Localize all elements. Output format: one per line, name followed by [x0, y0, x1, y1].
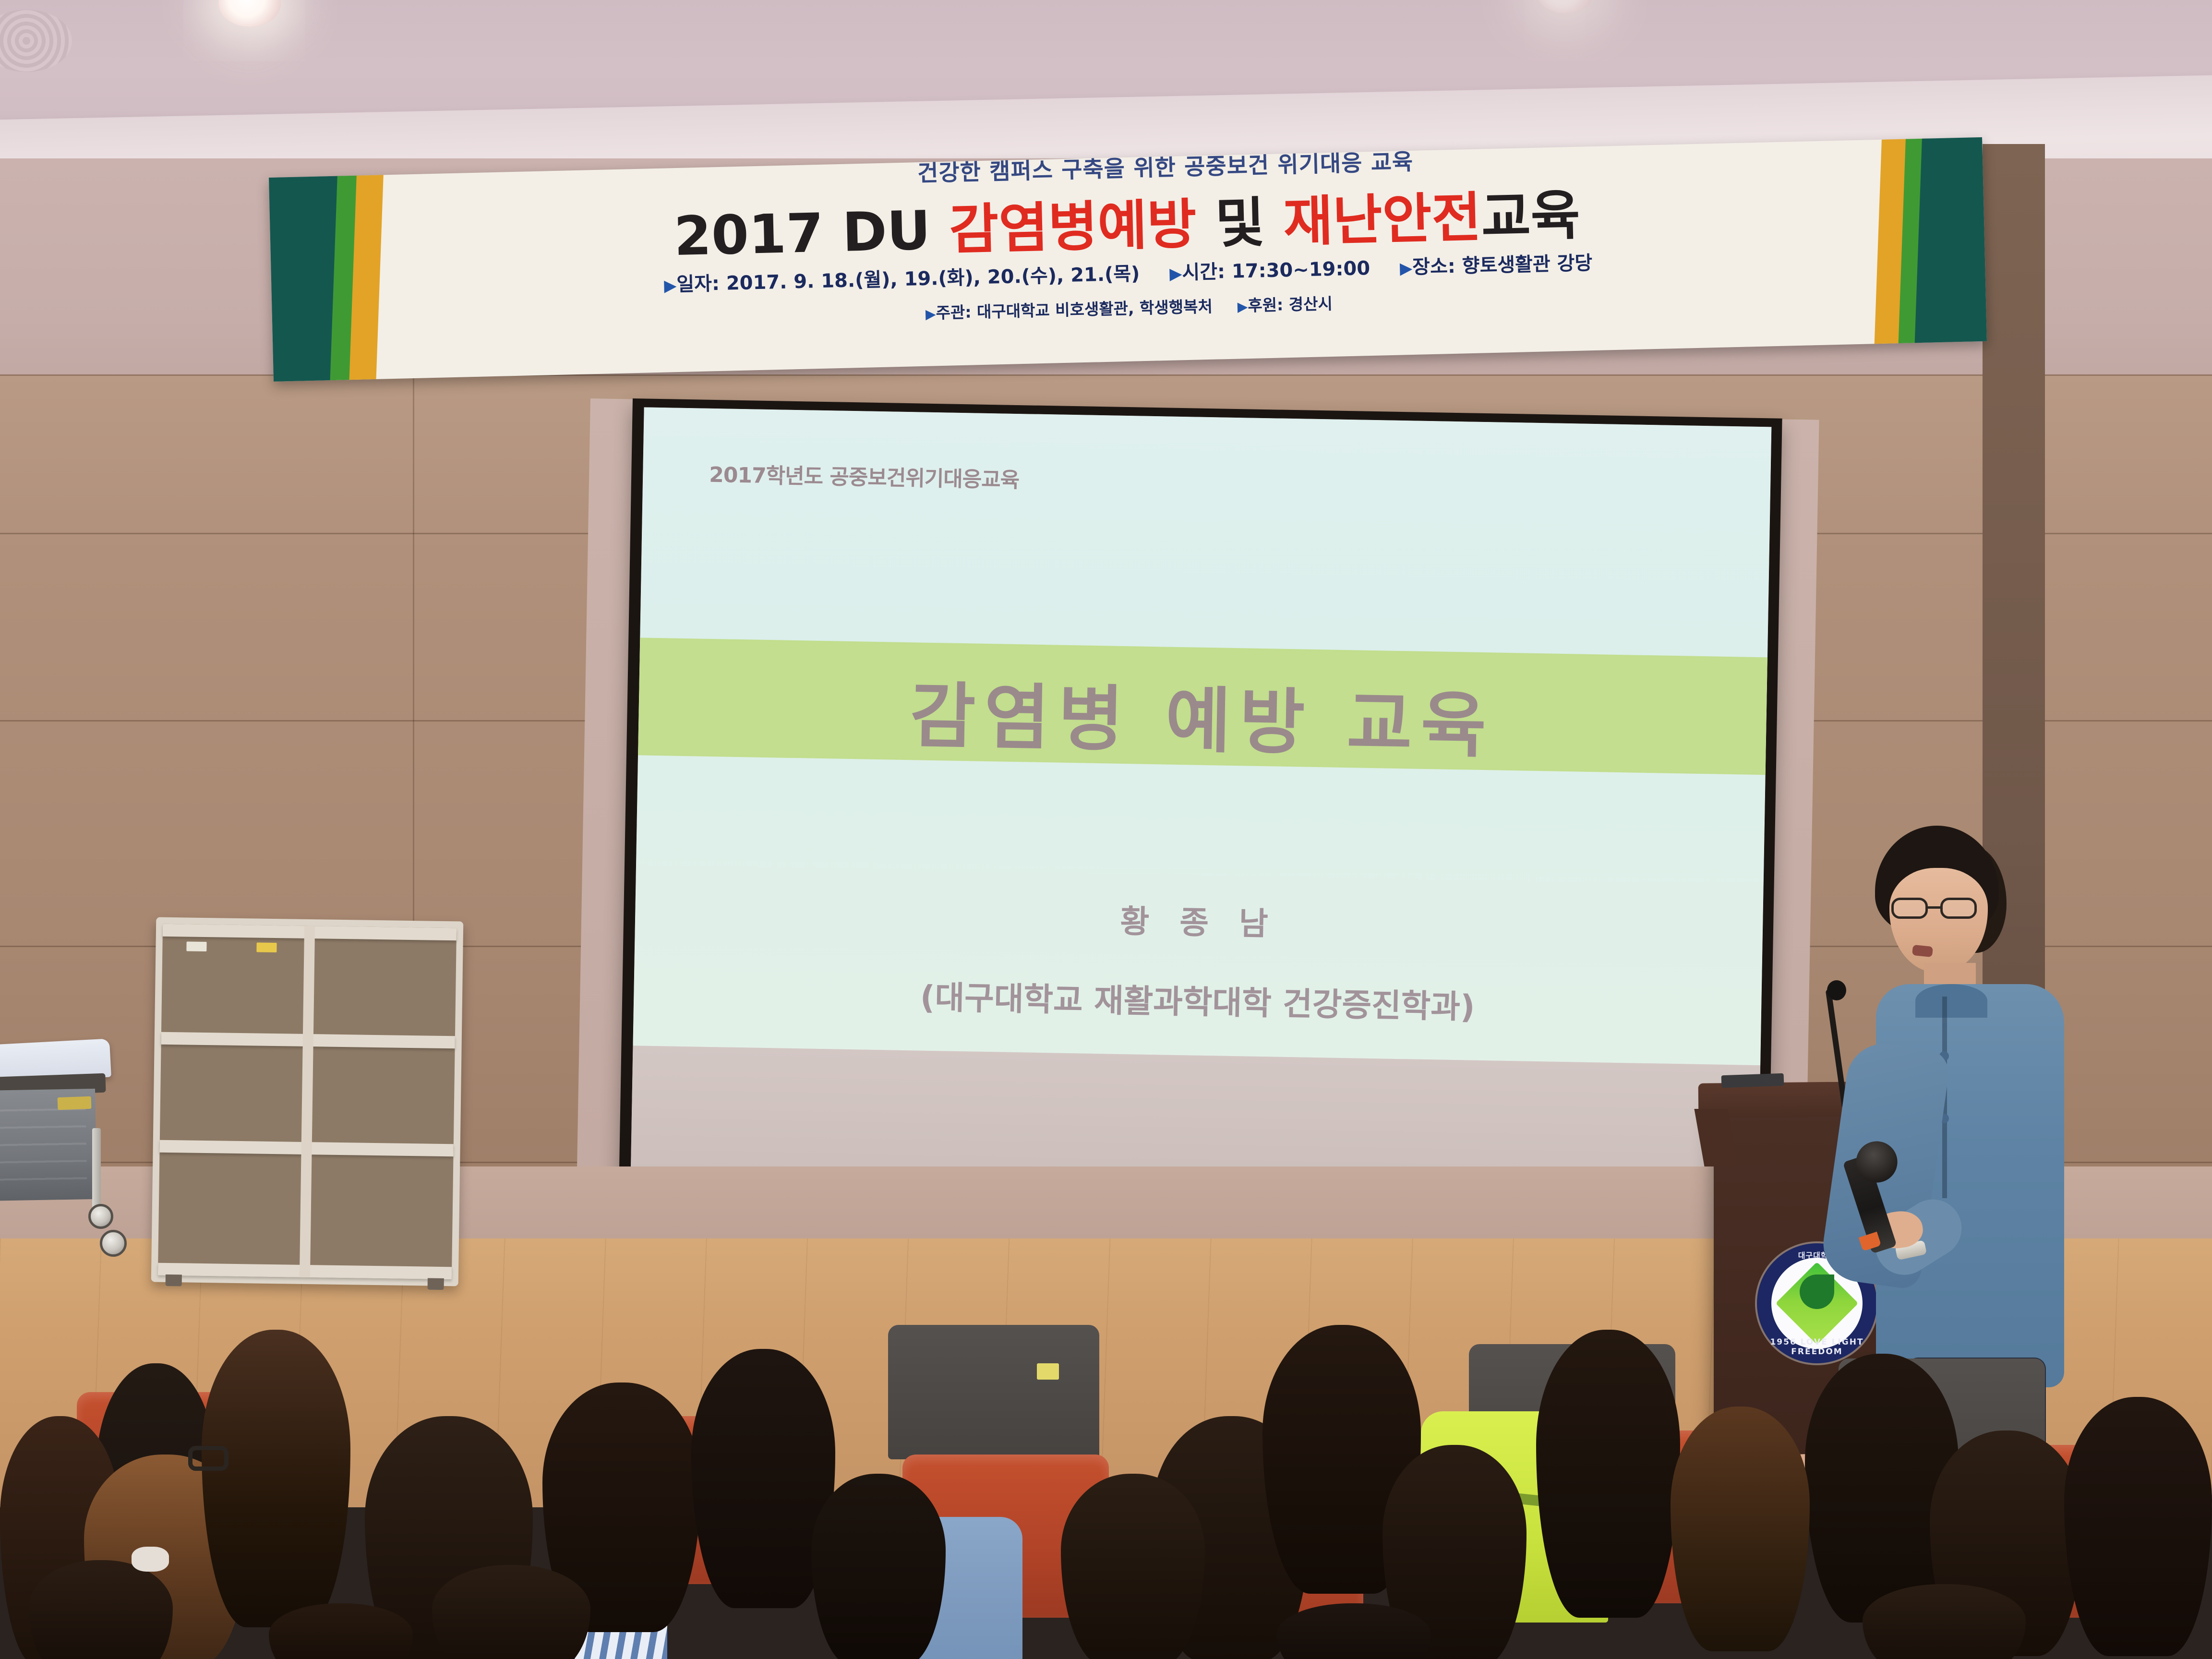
triangle-marker-icon: ▶ [1169, 264, 1182, 284]
audience-member-head [1277, 1603, 1431, 1659]
banner-title-infection: 감염병예방 [949, 193, 1197, 262]
audience-member-head [1671, 1407, 1810, 1651]
audience-member-head [202, 1330, 350, 1627]
projection-screen-frame: 2017학년도 공중보건위기대응교육 감염병 예방 교육 황 종 남 (대구대학… [619, 398, 1782, 1225]
banner-meta-place-label: 장소: [1412, 255, 1456, 278]
ceiling-light [218, 0, 281, 27]
ceiling-light [1536, 0, 1594, 13]
presenter-collar [1915, 984, 1987, 1018]
audience-member-head [29, 1560, 173, 1659]
triangle-marker-icon: ▶ [926, 306, 936, 322]
banner-meta-sponsor: ▶후원: 경산시 [1237, 291, 1333, 316]
projection-screen-surface: 2017학년도 공중보건위기대응교육 감염병 예방 교육 황 종 남 (대구대학… [630, 407, 1771, 1213]
storage-shelf [151, 917, 464, 1286]
lecture-hall-scene: 건강한 캠퍼스 구축을 위한 공중보건 위기대응 교육 2017 DU 감염병예… [0, 0, 2212, 1659]
banner-meta-host-value: 대구대학교 비호생활관, 학생행복처 [977, 297, 1213, 322]
glasses-icon [1891, 898, 1983, 920]
banner-meta-sponsor-value: 경산시 [1288, 294, 1333, 314]
banner-meta-place: ▶장소: 향토생활관 강당 [1399, 247, 1592, 279]
shelf-leg [428, 1278, 444, 1290]
triangle-marker-icon: ▶ [1237, 299, 1248, 314]
cart-wheel [88, 1204, 113, 1229]
audience-member-head [269, 1603, 413, 1659]
ceiling-vent-icon [0, 10, 72, 72]
banner-meta-place-value: 향토생활관 강당 [1462, 252, 1593, 277]
triangle-marker-icon: ▶ [664, 276, 677, 296]
banner-meta-time-label: 시간: [1182, 261, 1226, 284]
hair-tie [132, 1547, 169, 1572]
shelf-leg [166, 1274, 182, 1286]
audience-glasses-icon [188, 1446, 228, 1471]
cart-post [92, 1128, 101, 1214]
chair-number-tag [1037, 1363, 1059, 1380]
banner-title-disaster: 재난안전 [1283, 187, 1482, 254]
audience-member-head [432, 1565, 590, 1659]
banner-title-and: 및 [1196, 191, 1284, 255]
banner-title-year: 2017 DU [673, 199, 950, 268]
audience-member-head [1536, 1330, 1680, 1618]
presenter-mouth [1912, 945, 1933, 957]
podium-laptop[interactable] [1721, 1073, 1784, 1088]
shelf-label-tag [256, 942, 276, 952]
cart-label-tag [58, 1096, 92, 1110]
slide-speaker-name: 황 종 남 [635, 887, 1763, 953]
banner-meta-sponsor-label: 후원: [1248, 295, 1284, 315]
event-banner: 건강한 캠퍼스 구축을 위한 공중보건 위기대응 교육 2017 DU 감염병예… [269, 137, 1987, 382]
banner-meta-date-value: 2017. 9. 18.(월), 19.(화), 20.(수), 21.(목) [726, 263, 1140, 294]
audience-seating [0, 1334, 2212, 1659]
presenter-face [1889, 868, 1988, 973]
auditorium-chair[interactable] [888, 1325, 1099, 1459]
slide-affiliation: (대구대학교 재활과학대학 건강증진학과) [634, 966, 1762, 1033]
audience-member-head [811, 1474, 946, 1659]
treatment-cart [0, 1042, 125, 1200]
audience-member-head [2064, 1397, 2212, 1656]
slide-header: 2017학년도 공중보건위기대응교육 [709, 457, 1020, 493]
banner-meta-host-label: 주관: [936, 303, 972, 323]
banner-meta-time-value: 17:30~19:00 [1231, 257, 1370, 283]
banner-meta-host: ▶주관: 대구대학교 비호생활관, 학생행복처 [925, 294, 1213, 324]
presenter-arm [1818, 1039, 1952, 1290]
banner-meta-row-2: ▶주관: 대구대학교 비호생활관, 학생행복처 ▶후원: 경산시 [925, 291, 1333, 324]
cart-wheel [100, 1230, 127, 1257]
audience-member-head [1061, 1474, 1205, 1659]
presentation-slide: 2017학년도 공중보건위기대응교육 감염병 예방 교육 황 종 남 (대구대학… [633, 407, 1771, 1065]
banner-meta-time: ▶시간: 17:30~19:00 [1169, 252, 1370, 285]
banner-meta-date-label: 일자: [676, 273, 720, 296]
shelf-label-tag [186, 941, 206, 951]
triangle-marker-icon: ▶ [1400, 259, 1413, 278]
slide-title: 감염병 예방 교육 [638, 653, 1767, 776]
banner-title-education: 교육 [1480, 184, 1581, 249]
audience-member-head [1863, 1584, 2026, 1659]
